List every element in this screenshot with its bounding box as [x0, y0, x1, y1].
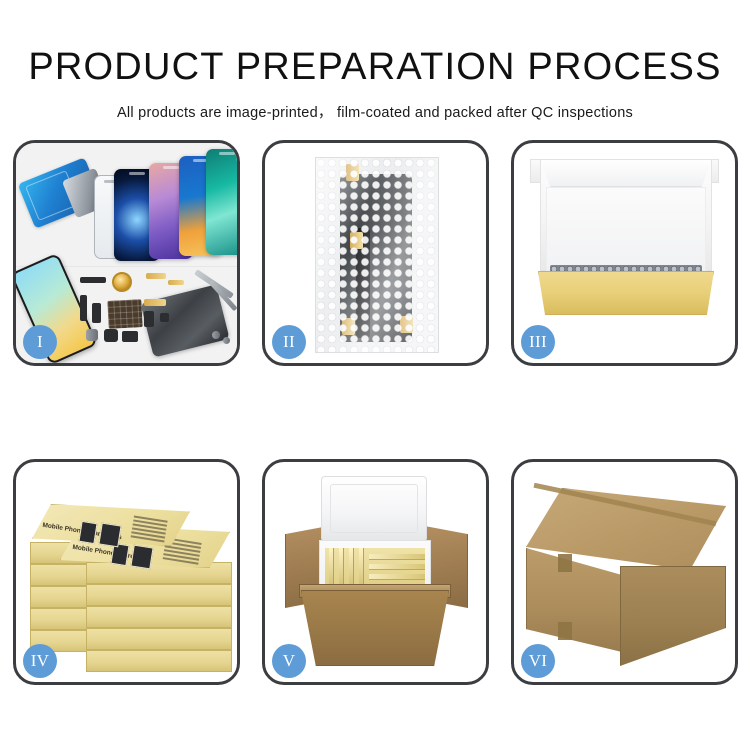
part-cable-icon [80, 295, 87, 321]
process-step-1[interactable]: I [13, 140, 240, 366]
box-window-right-2 [130, 545, 153, 570]
process-step-3[interactable]: III [511, 140, 738, 366]
carton-body-icon [301, 590, 449, 666]
kraft-box-body-icon [538, 271, 714, 315]
product-preparation-infographic: PRODUCT PREPARATION PROCESS All products… [0, 0, 750, 750]
box-slab-r3 [86, 606, 232, 628]
bubble-bag-icon [315, 157, 439, 353]
part-camera-icon [122, 331, 138, 342]
box-slab-r5 [86, 650, 232, 672]
box-lid-top-icon [540, 159, 712, 187]
part-shield-icon [144, 311, 154, 327]
carton-tape-top-icon [558, 554, 572, 572]
plastic-sheen [316, 158, 438, 352]
chip-array-icon [107, 299, 142, 329]
carton-right-face [620, 566, 726, 666]
header: PRODUCT PREPARATION PROCESS All products… [0, 0, 750, 122]
step-badge-3: III [521, 325, 555, 359]
part-button-icon [86, 329, 98, 341]
step-badge-1: I [23, 325, 57, 359]
step-badge-2: II [272, 325, 306, 359]
carton-tape-bottom-icon [558, 622, 572, 640]
phone-teal-icon [206, 149, 237, 255]
box-window-left-1 [78, 521, 97, 544]
part-bracket-icon [92, 303, 101, 323]
part-speaker-icon [104, 329, 118, 342]
process-step-5[interactable]: V [262, 459, 489, 685]
part-ic-icon [160, 313, 169, 322]
part-gold-flex-icon [146, 273, 166, 279]
process-step-4[interactable]: Mobile Phone Spare Parts Mobile Phone Sp… [13, 459, 240, 685]
page-subtitle: All products are image-printed， film-coa… [0, 86, 750, 122]
step-badge-6: VI [521, 644, 555, 678]
part-connector-icon [144, 299, 166, 306]
box-spec-lines-left [130, 515, 167, 544]
box-inner-wall [546, 187, 706, 271]
screw-icon [212, 331, 220, 339]
screw-2-icon [223, 337, 230, 344]
box-window-left-2 [98, 523, 121, 548]
process-step-grid: I II [13, 140, 737, 685]
wireless-coil-icon [112, 272, 132, 292]
page-title: PRODUCT PREPARATION PROCESS [0, 0, 750, 86]
step-badge-4: IV [23, 644, 57, 678]
part-gold-small-icon [168, 280, 184, 285]
carton-left-face [526, 548, 622, 652]
box-slab-r2 [86, 584, 232, 606]
process-step-2[interactable]: II [262, 140, 489, 366]
process-step-6[interactable]: VI [511, 459, 738, 685]
part-strip-icon [80, 277, 106, 283]
foam-lid-icon [321, 476, 427, 542]
step-badge-5: V [272, 644, 306, 678]
box-slab-r4 [86, 628, 232, 650]
